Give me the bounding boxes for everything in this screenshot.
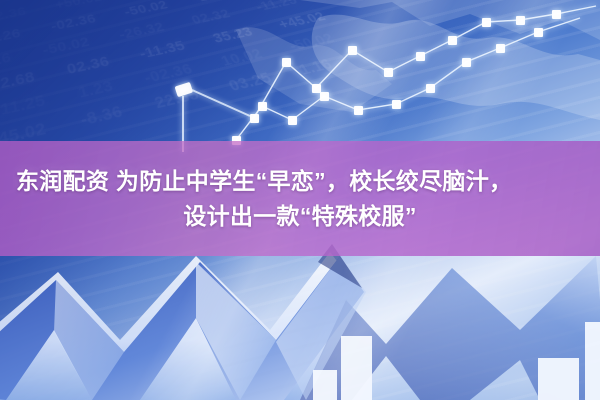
headline-line-2: 设计出一款“特殊校服” [183, 200, 416, 233]
headline-overlay-band: 东润配资 为防止中学生“早恋”，校长绞尽脑汁， 设计出一款“特殊校服” [0, 141, 600, 256]
news-banner-image: +45.02-11.25-02.3621.064.36-50.02 -02.35… [0, 0, 600, 400]
headline-line-1: 东润配资 为防止中学生“早恋”，校长绞尽脑汁， [16, 165, 512, 198]
